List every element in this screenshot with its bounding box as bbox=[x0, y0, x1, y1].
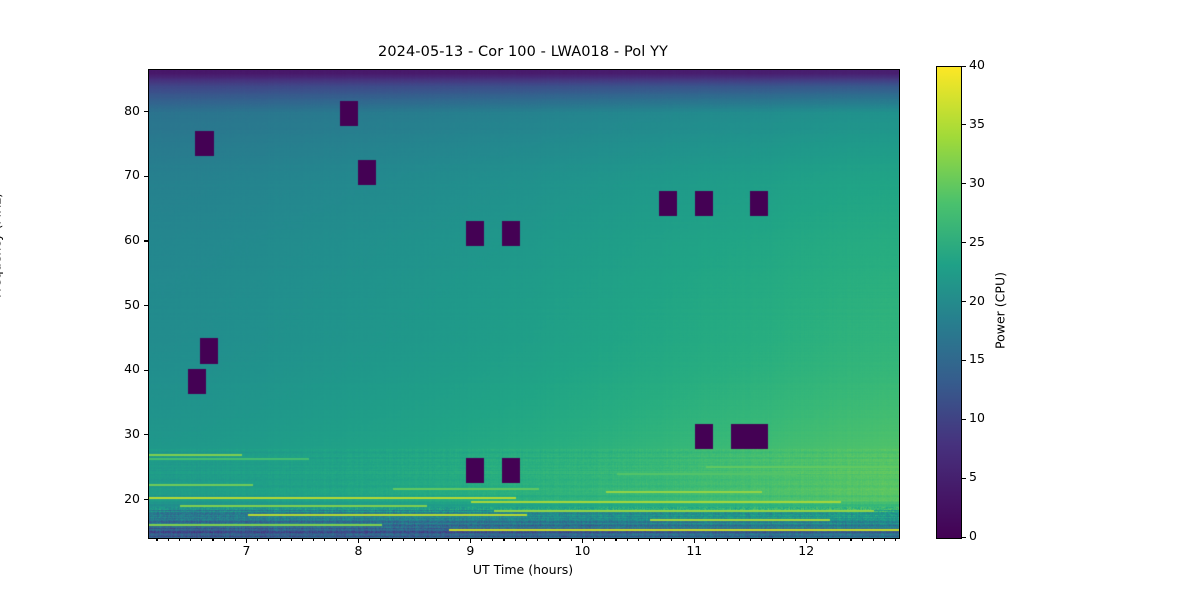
x-tick-minor-mark bbox=[895, 538, 896, 541]
colorbar-tick-mark bbox=[962, 478, 967, 479]
x-tick-minor-mark bbox=[257, 538, 258, 541]
x-tick-minor-mark bbox=[369, 538, 370, 541]
colorbar-tick-label: 40 bbox=[969, 57, 985, 72]
colorbar-tick-mark bbox=[962, 537, 967, 538]
x-tick-minor-mark bbox=[291, 538, 292, 541]
x-tick-minor-mark bbox=[739, 538, 740, 541]
x-tick-minor-mark bbox=[392, 538, 393, 541]
y-tick-mark bbox=[144, 305, 149, 306]
x-tick-minor-mark bbox=[671, 538, 672, 541]
x-tick-minor-mark bbox=[336, 538, 337, 541]
spectrogram-axes bbox=[148, 69, 900, 539]
x-tick-minor-mark bbox=[280, 538, 281, 541]
x-tick-mark bbox=[470, 538, 471, 543]
plot-title: 2024-05-13 - Cor 100 - LWA018 - Pol YY bbox=[0, 44, 1046, 60]
y-tick-mark bbox=[144, 240, 149, 241]
x-tick-minor-mark bbox=[526, 538, 527, 541]
x-tick-minor-mark bbox=[727, 538, 728, 541]
colorbar-tick-label: 35 bbox=[969, 116, 985, 131]
x-tick-minor-mark bbox=[660, 538, 661, 541]
y-tick-label: 30 bbox=[78, 426, 140, 441]
x-tick-label: 9 bbox=[450, 543, 490, 558]
x-tick-label: 10 bbox=[562, 543, 602, 558]
x-tick-minor-mark bbox=[750, 538, 751, 541]
x-tick-label: 12 bbox=[786, 543, 826, 558]
x-tick-minor-mark bbox=[571, 538, 572, 541]
x-tick-minor-mark bbox=[873, 538, 874, 541]
x-tick-minor-mark bbox=[324, 538, 325, 541]
x-tick-minor-mark bbox=[235, 538, 236, 541]
colorbar-tick-mark bbox=[962, 419, 967, 420]
x-tick-minor-mark bbox=[403, 538, 404, 541]
colorbar bbox=[936, 66, 962, 539]
colorbar-tick-mark bbox=[962, 124, 967, 125]
x-tick-minor-mark bbox=[515, 538, 516, 541]
y-tick-label: 70 bbox=[78, 167, 140, 182]
x-tick-minor-mark bbox=[839, 538, 840, 541]
x-tick-minor-mark bbox=[795, 538, 796, 541]
y-tick-mark bbox=[144, 499, 149, 500]
y-axis-label: Frequency (MHz) bbox=[0, 116, 4, 376]
x-tick-minor-mark bbox=[716, 538, 717, 541]
x-tick-minor-mark bbox=[817, 538, 818, 541]
figure-canvas: 2024-05-13 - Cor 100 - LWA018 - Pol YY F… bbox=[0, 0, 1200, 600]
x-tick-minor-mark bbox=[503, 538, 504, 541]
x-tick-minor-mark bbox=[212, 538, 213, 541]
colorbar-tick-mark bbox=[962, 242, 967, 243]
x-tick-minor-mark bbox=[638, 538, 639, 541]
x-tick-minor-mark bbox=[783, 538, 784, 541]
x-tick-minor-mark bbox=[604, 538, 605, 541]
x-tick-mark bbox=[358, 538, 359, 543]
x-tick-minor-mark bbox=[414, 538, 415, 541]
x-tick-minor-mark bbox=[537, 538, 538, 541]
x-tick-minor-mark bbox=[492, 538, 493, 541]
x-tick-minor-mark bbox=[593, 538, 594, 541]
y-tick-mark bbox=[144, 176, 149, 177]
x-tick-minor-mark bbox=[168, 538, 169, 541]
x-tick-mark bbox=[582, 538, 583, 543]
colorbar-tick-label: 30 bbox=[969, 175, 985, 190]
x-tick-minor-mark bbox=[380, 538, 381, 541]
y-tick-mark bbox=[144, 111, 149, 112]
colorbar-tick-label: 0 bbox=[969, 528, 977, 543]
x-tick-minor-mark bbox=[761, 538, 762, 541]
colorbar-tick-mark bbox=[962, 301, 967, 302]
x-tick-minor-mark bbox=[683, 538, 684, 541]
colorbar-tick-label: 5 bbox=[969, 469, 977, 484]
x-tick-minor-mark bbox=[179, 538, 180, 541]
y-tick-label: 60 bbox=[78, 232, 140, 247]
x-tick-label: 11 bbox=[674, 543, 714, 558]
dynamic-spectrum-image bbox=[149, 70, 899, 538]
x-tick-minor-mark bbox=[862, 538, 863, 541]
x-tick-minor-mark bbox=[268, 538, 269, 541]
y-tick-label: 20 bbox=[78, 491, 140, 506]
x-tick-minor-mark bbox=[884, 538, 885, 541]
x-tick-minor-mark bbox=[627, 538, 628, 541]
x-tick-minor-mark bbox=[201, 538, 202, 541]
y-tick-label: 50 bbox=[78, 297, 140, 312]
colorbar-tick-label: 20 bbox=[969, 293, 985, 308]
x-tick-mark bbox=[246, 538, 247, 543]
colorbar-tick-mark bbox=[962, 360, 967, 361]
x-tick-minor-mark bbox=[436, 538, 437, 541]
x-tick-minor-mark bbox=[347, 538, 348, 541]
x-tick-minor-mark bbox=[313, 538, 314, 541]
x-tick-minor-mark bbox=[481, 538, 482, 541]
x-tick-minor-mark bbox=[425, 538, 426, 541]
colorbar-tick-mark bbox=[962, 66, 967, 67]
y-tick-label: 80 bbox=[78, 103, 140, 118]
colorbar-tick-mark bbox=[962, 183, 967, 184]
x-tick-minor-mark bbox=[459, 538, 460, 541]
x-tick-minor-mark bbox=[705, 538, 706, 541]
colorbar-tick-label: 15 bbox=[969, 351, 985, 366]
colorbar-label: Power (CPU) bbox=[993, 191, 1008, 431]
y-tick-mark bbox=[144, 434, 149, 435]
colorbar-tick-label: 10 bbox=[969, 410, 985, 425]
x-tick-minor-mark bbox=[850, 538, 851, 541]
x-tick-minor-mark bbox=[302, 538, 303, 541]
x-tick-mark bbox=[694, 538, 695, 543]
x-tick-minor-mark bbox=[224, 538, 225, 541]
x-tick-minor-mark bbox=[190, 538, 191, 541]
x-tick-minor-mark bbox=[548, 538, 549, 541]
x-tick-minor-mark bbox=[615, 538, 616, 541]
x-tick-minor-mark bbox=[559, 538, 560, 541]
y-tick-mark bbox=[144, 370, 149, 371]
x-tick-minor-mark bbox=[156, 538, 157, 541]
x-tick-minor-mark bbox=[772, 538, 773, 541]
x-tick-minor-mark bbox=[649, 538, 650, 541]
x-tick-mark bbox=[806, 538, 807, 543]
x-tick-label: 7 bbox=[227, 543, 267, 558]
x-axis-label: UT Time (hours) bbox=[148, 562, 898, 577]
x-tick-minor-mark bbox=[828, 538, 829, 541]
x-tick-label: 8 bbox=[338, 543, 378, 558]
colorbar-tick-label: 25 bbox=[969, 234, 985, 249]
x-tick-minor-mark bbox=[448, 538, 449, 541]
y-tick-label: 40 bbox=[78, 361, 140, 376]
